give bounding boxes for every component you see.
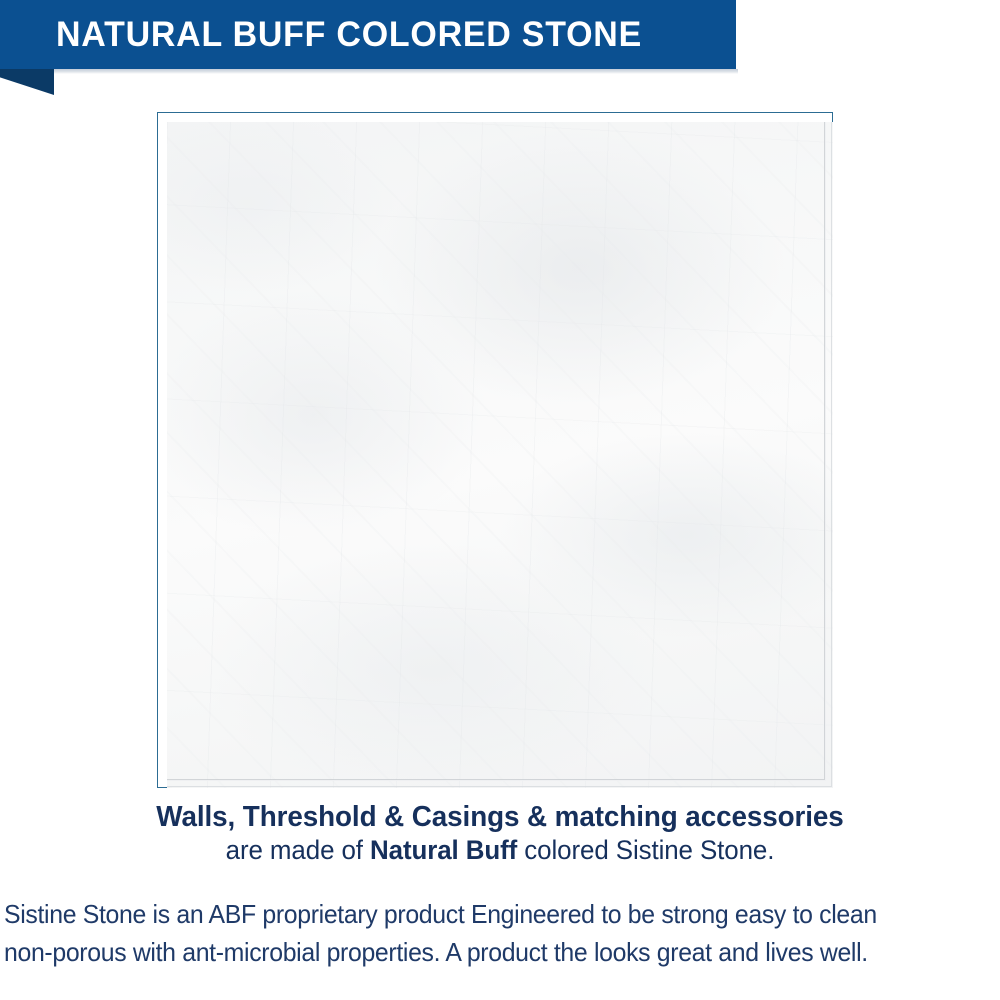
product-image-frame bbox=[157, 112, 833, 788]
tile-slab-edge-line bbox=[167, 122, 832, 787]
caption-prefix-text: are made of bbox=[226, 835, 370, 865]
header-ribbon-shadow bbox=[0, 69, 738, 74]
description-line-2: non-porous with ant-microbial properties… bbox=[4, 933, 953, 971]
caption-product-name: Natural Buff bbox=[370, 835, 517, 865]
product-tile-image bbox=[167, 122, 833, 788]
caption-line-primary: Walls, Threshold & Casings & matching ac… bbox=[20, 800, 980, 834]
caption-suffix-text: colored Sistine Stone. bbox=[517, 835, 774, 865]
page-title: NATURAL BUFF COLORED STONE bbox=[56, 0, 698, 69]
caption-block: Walls, Threshold & Casings & matching ac… bbox=[0, 800, 1000, 867]
description-paragraph: Sistine Stone is an ABF proprietary prod… bbox=[4, 895, 998, 971]
header-ribbon: NATURAL BUFF COLORED STONE bbox=[0, 0, 736, 69]
header-ribbon-fold-icon bbox=[0, 69, 54, 95]
description-line-1: Sistine Stone is an ABF proprietary prod… bbox=[4, 895, 953, 933]
caption-line-secondary: are made of Natural Buff colored Sistine… bbox=[20, 834, 980, 867]
